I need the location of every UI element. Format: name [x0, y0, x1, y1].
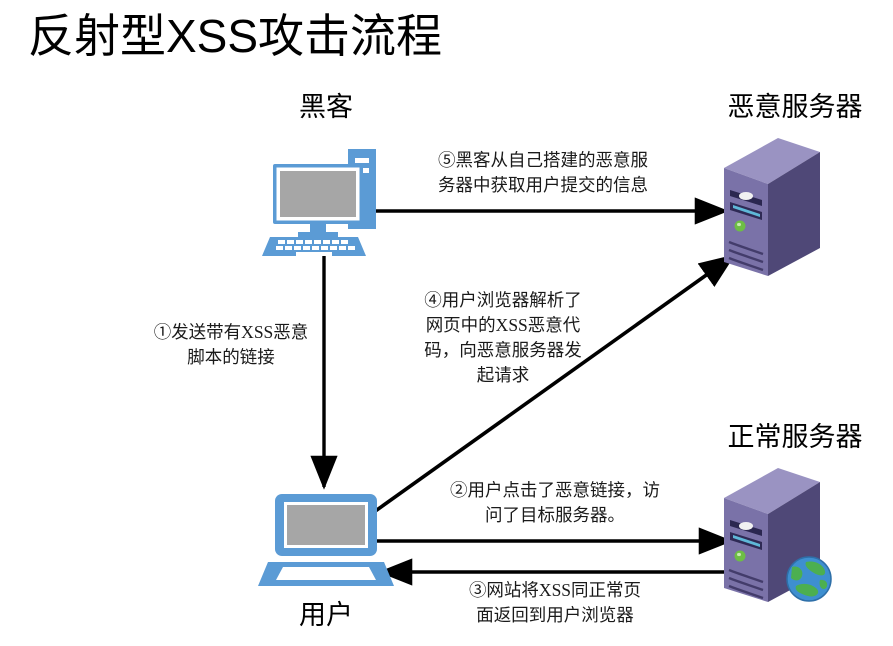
step-4-text: ④用户浏览器解析了 网页中的XSS恶意代 码，向恶意服务器发 起请求 [392, 288, 614, 388]
hacker-label: 黑客 [260, 90, 392, 124]
laptop-icon [258, 490, 394, 595]
user-node[interactable] [258, 490, 394, 600]
malicious-server-node[interactable] [716, 136, 826, 285]
desktop-computer-icon [262, 140, 390, 258]
malicious-server-label: 恶意服务器 [700, 90, 890, 124]
normal-server-node[interactable] [716, 466, 841, 609]
server-tower-icon [716, 136, 826, 280]
hacker-node[interactable] [262, 140, 390, 263]
step-2-text: ②用户点击了恶意链接，访 问了目标服务器。 [424, 478, 686, 528]
step-3-text: ③网站将XSS同正常页 面返回到用户浏览器 [424, 578, 686, 628]
normal-server-label: 正常服务器 [700, 420, 890, 454]
diagram-canvas: 反射型XSS攻击流程 [0, 0, 893, 646]
globe-icon [787, 557, 831, 601]
server-tower-globe-icon [716, 466, 841, 604]
step-1-text: ①发送带有XSS恶意 脚本的链接 [133, 320, 329, 370]
step-5-text: ⑤黑客从自己搭建的恶意服 务器中获取用户提交的信息 [393, 148, 693, 198]
user-label: 用户 [260, 598, 392, 632]
